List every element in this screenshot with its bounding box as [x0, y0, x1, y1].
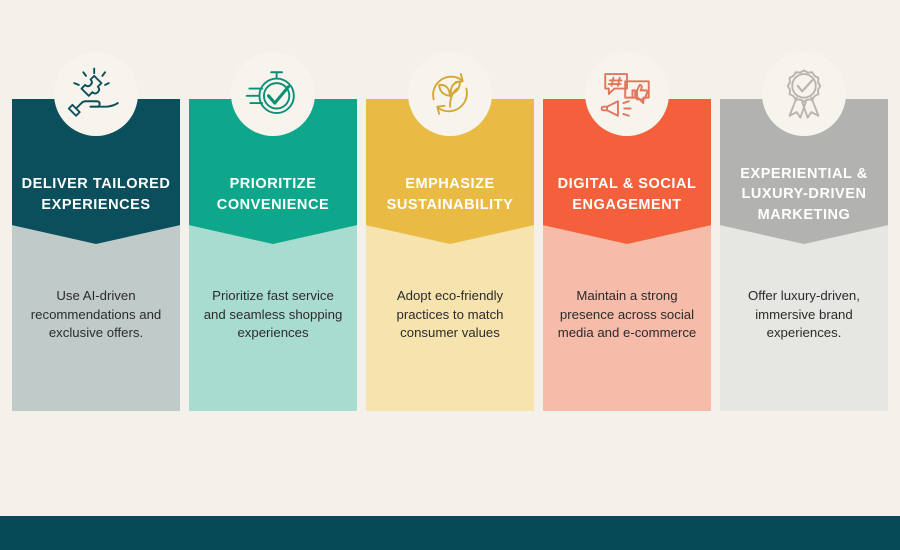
strategy-columns: DELIVER TAILORED EXPERIENCES Use AI-driv…	[12, 99, 888, 411]
infographic-root: DELIVER TAILORED EXPERIENCES Use AI-driv…	[0, 0, 900, 550]
recycle-leaf-icon	[408, 52, 492, 136]
column-title: DELIVER TAILORED EXPERIENCES	[12, 174, 180, 215]
column-description: Prioritize fast service and seamless sho…	[189, 287, 357, 343]
strategy-column-experiential-luxury-driven-marketing[interactable]: EXPERIENTIAL & LUXURY-DRIVEN MARKETING O…	[720, 99, 888, 411]
column-description: Maintain a strong presence across social…	[543, 287, 711, 343]
column-description: Use AI-driven recommendations and exclus…	[12, 287, 180, 343]
strategy-column-prioritize-convenience[interactable]: PRIORITIZE CONVENIENCE Prioritize fast s…	[189, 99, 357, 411]
award-ribbon-check-icon	[762, 52, 846, 136]
stopwatch-check-icon	[231, 52, 315, 136]
column-title: DIGITAL & SOCIAL ENGAGEMENT	[543, 174, 711, 215]
column-title: EXPERIENTIAL & LUXURY-DRIVEN MARKETING	[720, 164, 888, 226]
strategy-column-emphasize-sustainability[interactable]: EMPHASIZE SUSTAINABILITY Adopt eco-frien…	[366, 99, 534, 411]
strategy-column-digital-social-engagement[interactable]: DIGITAL & SOCIAL ENGAGEMENT Maintain a s…	[543, 99, 711, 411]
footer-bar	[0, 516, 900, 550]
strategy-column-deliver-tailored-experiences[interactable]: DELIVER TAILORED EXPERIENCES Use AI-driv…	[12, 99, 180, 411]
hand-puzzle-piece-icon	[54, 52, 138, 136]
social-engagement-icon	[585, 52, 669, 136]
column-title: EMPHASIZE SUSTAINABILITY	[366, 174, 534, 215]
column-description: Adopt eco-friendly practices to match co…	[366, 287, 534, 343]
column-title: PRIORITIZE CONVENIENCE	[189, 174, 357, 215]
column-description: Offer luxury-driven, immersive brand exp…	[720, 287, 888, 343]
